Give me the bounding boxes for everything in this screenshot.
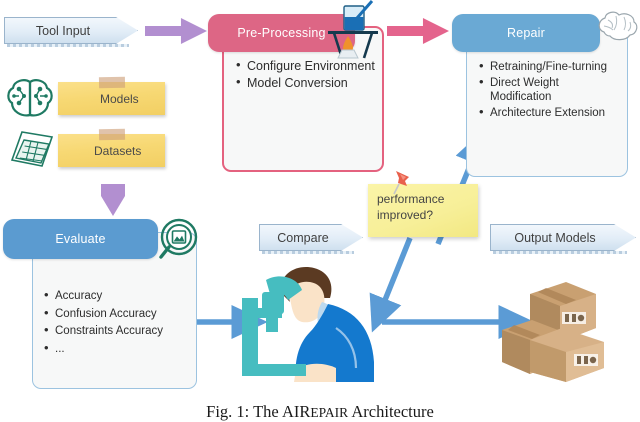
banner-tool-input-shadow: [7, 44, 129, 47]
banner-compare-shadow: [262, 251, 354, 254]
note-line-2: improved?: [377, 207, 478, 223]
caption-suffix: Architecture: [348, 402, 434, 421]
banner-output-models[interactable]: Output Models: [490, 224, 636, 251]
note-datasets[interactable]: Datasets: [58, 134, 165, 167]
evaluate-header[interactable]: Evaluate: [3, 219, 158, 259]
lab-beaker-burner-icon: [316, 0, 380, 62]
banner-compare[interactable]: Compare: [259, 224, 363, 251]
list-item: Model Conversion: [236, 75, 378, 91]
list-item: Retraining/Fine-turning: [479, 60, 621, 75]
cardboard-boxes-icon: [500, 272, 612, 384]
note-datasets-label: Datasets: [94, 144, 141, 158]
banner-compare-label: Compare: [277, 231, 344, 245]
list-item: Constraints Accuracy: [44, 323, 196, 340]
banner-output-models-shadow: [493, 251, 627, 254]
list-item: ...: [44, 341, 196, 358]
figure-caption: Fig. 1: The AIREPAIR Architecture: [0, 402, 640, 422]
note-models[interactable]: Models: [58, 82, 165, 115]
tape-strip: [98, 129, 124, 140]
push-pin-icon: [390, 168, 416, 196]
arrow-decision-to-microscope: [383, 238, 410, 305]
banner-tool-input-label: Tool Input: [36, 24, 106, 38]
spreadsheet-icon: [8, 128, 56, 170]
brain-circuit-icon: [6, 78, 54, 120]
preprocessing-list: Configure Environment Model Conversion: [236, 58, 378, 92]
evaluate-list: Accuracy Confusion Accuracy Constraints …: [44, 288, 196, 358]
arrow-inputs-to-evaluate: [95, 182, 131, 222]
note-performance-improved[interactable]: performance improved?: [368, 184, 478, 237]
repair-title: Repair: [507, 26, 545, 40]
list-item: Direct Weight Modification: [479, 76, 621, 105]
scientist-microscope-icon: [236, 258, 384, 386]
note-models-label: Models: [100, 92, 139, 106]
evaluate-title: Evaluate: [55, 232, 105, 246]
banner-tool-input[interactable]: Tool Input: [4, 17, 138, 44]
list-item: Accuracy: [44, 288, 196, 305]
banner-output-models-label: Output Models: [514, 231, 611, 245]
list-item: Architecture Extension: [479, 106, 621, 121]
figure-canvas: Tool Input Pre-Processing Configure Envi…: [0, 0, 640, 421]
caption-prefix: Fig. 1: The: [206, 402, 282, 421]
preprocessing-title: Pre-Processing: [237, 26, 325, 40]
brain-sketch-icon: [596, 10, 640, 44]
caption-name: AIR: [282, 402, 310, 421]
caption-name-smallcaps: EPAIR: [310, 405, 348, 420]
magnifier-image-icon: [156, 218, 202, 262]
list-item: Confusion Accuracy: [44, 306, 196, 323]
repair-list: Retraining/Fine-turning Direct Weight Mo…: [479, 60, 621, 121]
tape-strip: [98, 77, 124, 88]
repair-header[interactable]: Repair: [452, 14, 600, 52]
